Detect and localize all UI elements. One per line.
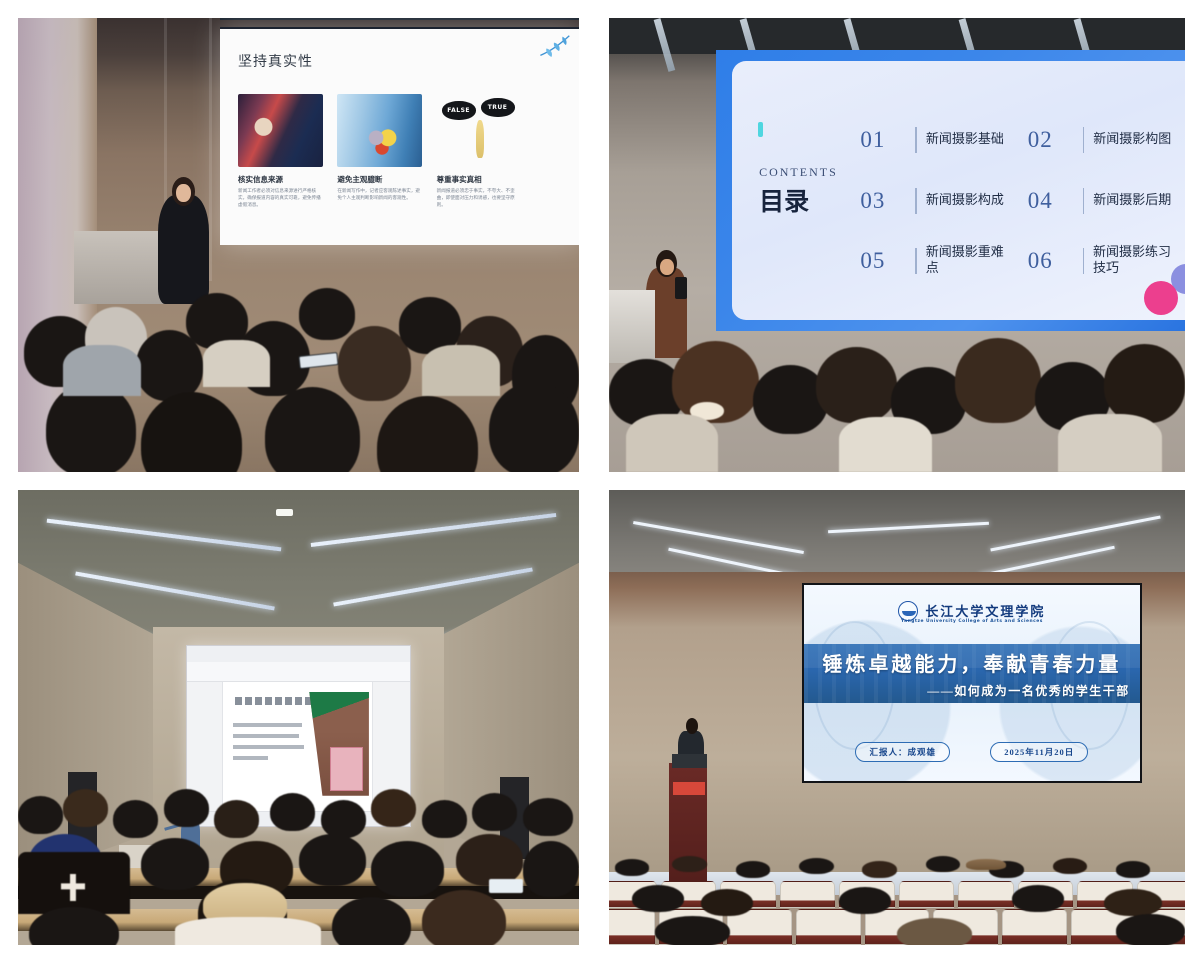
toc-divider xyxy=(1083,127,1085,153)
photo-panel-1: 坚持真实性 FALSE TRUE 核实信息来源 新闻工作者必 xyxy=(18,18,579,472)
toc-label: 新闻摄影构图 xyxy=(1093,132,1171,148)
panel2-microphone-icon xyxy=(675,277,687,300)
slide1-column: 核实信息来源 新闻工作者必须对信息来源进行严格核实，确保报道内容的真实可靠，避免… xyxy=(238,174,323,234)
panel2-speaker-face xyxy=(660,259,674,275)
slide2-pink-dot xyxy=(1144,281,1178,315)
toc-label: 新闻摄影后期 xyxy=(1093,193,1171,209)
slide4-university-en: Yangtze University College of Arts and S… xyxy=(804,619,1140,624)
toc-label: 新闻摄影构成 xyxy=(926,193,1004,209)
slide2-toc-heading: CONTENTS 目录 xyxy=(759,165,838,218)
bamboo-leaf-logo-icon xyxy=(537,33,571,59)
slide4-title-band: 锤炼卓越能力，奉献青春力量 ——如何成为一名优秀的学生干部 xyxy=(804,644,1140,703)
toc-divider xyxy=(1083,188,1085,214)
photo-panel-3 xyxy=(18,490,579,945)
slide1-text-columns: 核实信息来源 新闻工作者必须对信息来源进行严格核实，确保报道内容的真实可靠，避免… xyxy=(238,174,564,234)
true-bubble: TRUE xyxy=(481,98,515,117)
audience-phone xyxy=(298,352,338,369)
panel4-led-screen: 长江大学文理学院 Yangtze University College of A… xyxy=(802,583,1142,783)
panel2-projected-slide: CONTENTS 目录 01 新闻摄影基础 02 新闻摄影构图 xyxy=(716,50,1185,331)
panel4-presenter-head xyxy=(686,718,699,734)
panel1-speaker-face xyxy=(176,184,191,202)
slide1-thumb-true-false-graphic: FALSE TRUE xyxy=(437,94,522,167)
brown-cap xyxy=(966,859,1006,870)
slide4-presenter-pill: 汇报人：成观雄 xyxy=(855,742,950,762)
toc-number: 06 xyxy=(1028,248,1074,274)
slide2-toc-grid: 01 新闻摄影基础 02 新闻摄影构图 03 新闻摄影构成 xyxy=(860,110,1182,291)
ceiling-vent xyxy=(276,509,293,516)
slide4-sub-title: ——如何成为一名优秀的学生干部 xyxy=(927,682,1130,699)
toc-divider xyxy=(915,248,916,274)
slide1-thumb-protest-photo xyxy=(238,94,323,167)
slide1-column: 尊重事实真相 新闻报道必须忠于事实，不夸大、不歪曲，即使面对压力和诱惑，也要坚守… xyxy=(437,174,522,234)
canvas-title-placeholder xyxy=(235,697,318,705)
toc-item: 02 新闻摄影构图 xyxy=(1028,110,1183,170)
panel1-screen-bezel xyxy=(220,18,579,20)
photo-collage: 坚持真实性 FALSE TRUE 核实信息来源 新闻工作者必 xyxy=(0,0,1200,960)
cross-graphic-icon xyxy=(61,874,86,901)
slide1-column: 避免主观臆断 在新闻写作中，记者应客观陈述事实，避免个人主观判断影响新闻的客观性… xyxy=(337,174,422,234)
slide1-col-heading: 避免主观臆断 xyxy=(337,174,422,185)
slide1-col-body: 新闻工作者必须对信息来源进行严格核实，确保报道内容的真实可靠，避免传播虚假消息。 xyxy=(238,188,323,209)
slide2-inner: CONTENTS 目录 01 新闻摄影基础 02 新闻摄影构图 xyxy=(732,61,1186,320)
toc-number: 01 xyxy=(860,127,906,153)
panel1-audience xyxy=(18,236,579,472)
toc-item: 03 新闻摄影构成 xyxy=(860,171,1015,231)
toc-label: 新闻摄影练习技巧 xyxy=(1093,245,1182,278)
toc-label: 新闻摄影重难点 xyxy=(926,245,1015,278)
slide2-contents-cn: 目录 xyxy=(759,182,838,218)
slide2-accent-tick xyxy=(758,122,763,137)
jacket-black-cross xyxy=(18,852,130,914)
false-bubble: FALSE xyxy=(442,101,476,120)
canvas-body-lines xyxy=(233,723,308,767)
slide4-meta-pills: 汇报人：成观雄 2025年11月20日 xyxy=(804,742,1140,762)
water-bottle xyxy=(489,879,523,893)
slide4-date-pill: 2025年11月20日 xyxy=(990,742,1088,762)
podium-laptop xyxy=(672,754,707,768)
toc-label: 新闻摄影基础 xyxy=(926,132,1004,148)
slide4-main-title: 锤炼卓越能力，奉献青春力量 xyxy=(804,648,1140,677)
photo-panel-4: 长江大学文理学院 Yangtze University College of A… xyxy=(609,490,1185,945)
panel1-projected-slide: 坚持真实性 FALSE TRUE 核实信息来源 新闻工作者必 xyxy=(220,27,579,245)
slide1-col-heading: 核实信息来源 xyxy=(238,174,323,185)
slide1-col-body: 新闻报道必须忠于事实，不夸大、不歪曲，即使面对压力和诱惑，也要坚守原则。 xyxy=(437,188,522,209)
slide1-thumb-microphones-photo xyxy=(337,94,422,167)
panel3-audience xyxy=(18,772,579,945)
toc-number: 02 xyxy=(1028,127,1074,153)
photo-panel-2: CONTENTS 目录 01 新闻摄影基础 02 新闻摄影构图 xyxy=(609,18,1185,472)
toc-divider xyxy=(1083,248,1084,274)
slide1-thumbnails: FALSE TRUE xyxy=(238,94,564,167)
panel2-audience xyxy=(609,327,1185,472)
panel4-audience xyxy=(609,854,1185,945)
podium-nameplate xyxy=(673,782,705,795)
figure-silhouette-icon xyxy=(476,120,484,158)
app-ribbon-toolbar[interactable] xyxy=(187,662,409,682)
slide4-university-cn: 长江大学文理学院 xyxy=(925,601,1045,620)
toc-item: 01 新闻摄影基础 xyxy=(860,110,1015,170)
toc-number: 04 xyxy=(1028,188,1074,214)
slide2-contents-label: CONTENTS xyxy=(759,165,838,180)
toc-item: 04 新闻摄影后期 xyxy=(1028,171,1183,231)
toc-number: 03 xyxy=(860,188,906,214)
toc-number: 05 xyxy=(860,248,906,274)
slide1-col-body: 在新闻写作中，记者应客观陈述事实，避免个人主观判断影响新闻的客观性。 xyxy=(337,188,422,202)
toc-divider xyxy=(915,188,917,214)
slide1-title: 坚持真实性 xyxy=(238,51,313,71)
app-tab-bar[interactable] xyxy=(187,646,409,662)
toc-item: 05 新闻摄影重难点 xyxy=(860,231,1015,291)
toc-divider xyxy=(915,127,917,153)
slide1-col-heading: 尊重事实真相 xyxy=(437,174,522,185)
